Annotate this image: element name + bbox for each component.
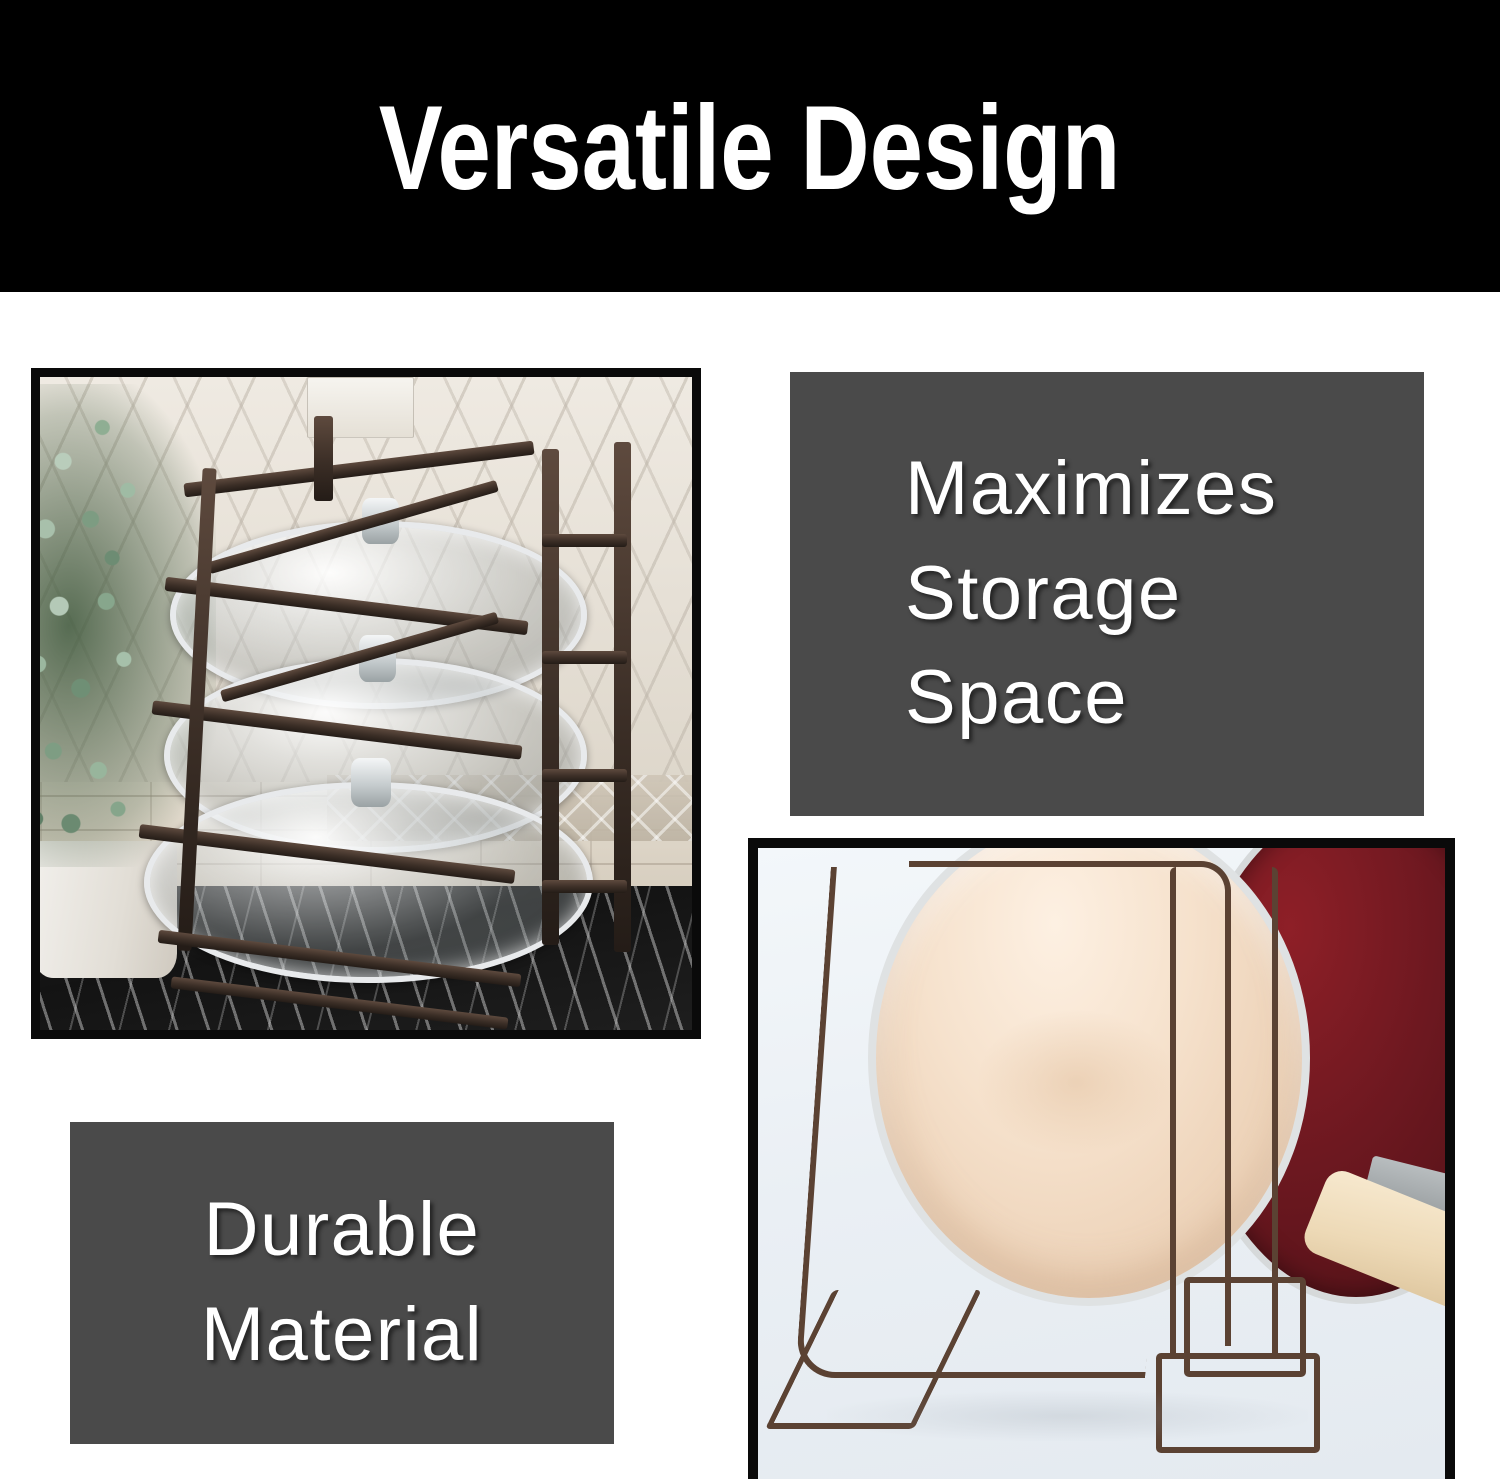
callout-maximizes-storage-space: Maximizes Storage Space <box>790 372 1424 816</box>
glass-pot-lid-bottom <box>144 782 593 983</box>
callout-durable-material: Durable Material <box>70 1122 614 1444</box>
rack-rung-3 <box>542 769 627 782</box>
callout-line-1: Maximizes <box>905 437 1424 542</box>
rack-ground-shadow <box>827 1391 1308 1441</box>
photo-pan-in-rack-content <box>758 848 1445 1479</box>
rack-rung-4 <box>542 880 627 893</box>
header-banner: Versatile Design <box>0 0 1500 292</box>
rack-post-right-inner <box>542 449 559 945</box>
callout-line-2: Material <box>201 1283 483 1388</box>
rack-rung-1 <box>542 534 627 547</box>
callout-line-3: Space <box>905 646 1424 751</box>
rack-rung-2 <box>542 651 627 664</box>
photo-pan-in-rack <box>748 838 1455 1479</box>
page-title: Versatile Design <box>379 88 1121 208</box>
rack-bar-top-upright <box>314 416 334 501</box>
photo-rack-with-glass-lids-content <box>40 377 692 1030</box>
photo-rack-with-glass-lids <box>31 368 701 1039</box>
rack-post-right-outer <box>614 442 631 951</box>
callout-line-1: Durable <box>204 1178 481 1283</box>
callout-line-2: Storage <box>905 542 1424 647</box>
